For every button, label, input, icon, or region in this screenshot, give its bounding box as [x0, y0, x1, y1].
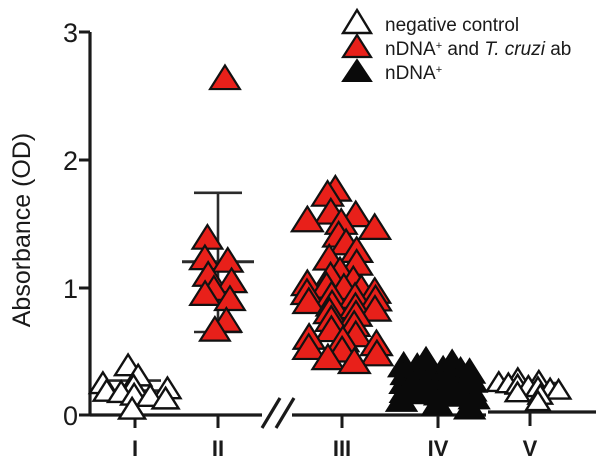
legend: negative control nDNA+ and T. cruzi ab n… [343, 10, 571, 84]
x-tick-label-V: V [523, 436, 538, 461]
y-tick-label-1: 1 [63, 274, 78, 304]
scatter-plot: Absorbance (OD) 3 2 1 0 I II III IV V [0, 0, 600, 465]
legend-label-negative-control: negative control [385, 15, 519, 36]
x-tick-label-II: II [212, 436, 224, 461]
data-point-II [210, 65, 240, 89]
y-tick-label-3: 3 [63, 18, 78, 48]
x-tick-label-I: I [132, 436, 138, 461]
y-axis-title: Absorbance (OD) [8, 133, 36, 328]
legend-label-ndna-tcruzi: nDNA+ and T. cruzi ab [385, 39, 571, 60]
y-tick-label-2: 2 [63, 146, 78, 176]
legend-marker-open-triangle-icon [343, 10, 371, 33]
x-tick-label-III: III [333, 436, 351, 461]
chart-canvas: Absorbance (OD) 3 2 1 0 I II III IV V [0, 0, 600, 465]
legend-label-ndna: nDNA+ [385, 63, 442, 84]
legend-marker-black-triangle-icon [343, 60, 371, 81]
y-tick-label-0: 0 [63, 401, 78, 431]
data-points-layer [90, 65, 570, 418]
legend-marker-red-triangle-icon [343, 35, 371, 57]
x-tick-label-IV: IV [428, 436, 449, 461]
